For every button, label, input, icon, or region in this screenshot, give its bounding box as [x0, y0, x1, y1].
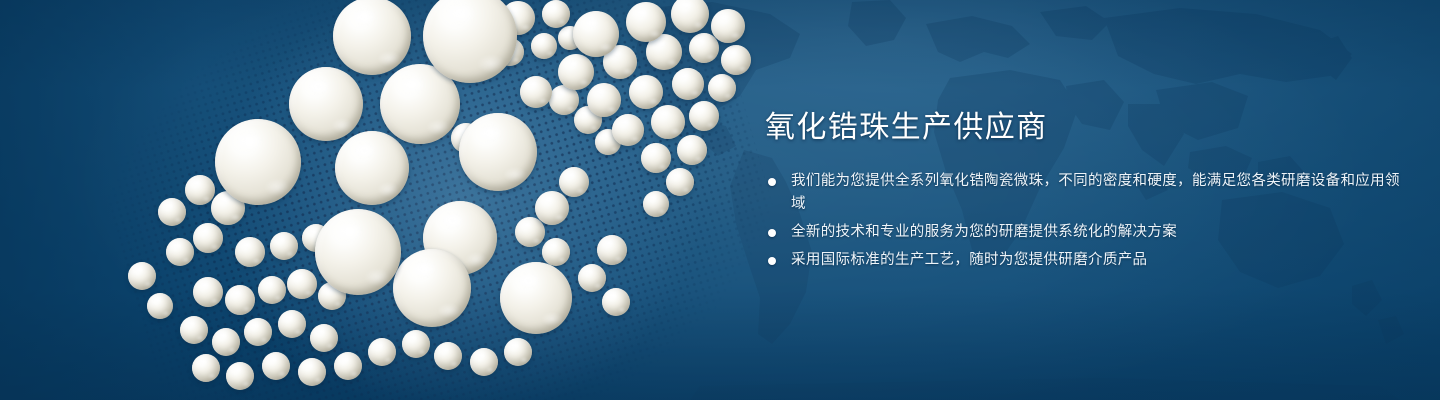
bullet-item: 全新的技术和专业的服务为您的研磨提供系统化的解决方案 [765, 221, 1405, 244]
bullet-item: 我们能为您提供全系列氧化锆陶瓷微珠，不同的密度和硬度，能满足您各类研磨设备和应用… [765, 170, 1405, 216]
banner-copy: 氧化锆珠生产供应商 我们能为您提供全系列氧化锆陶瓷微珠，不同的密度和硬度，能满足… [765, 108, 1405, 277]
bullet-text: 采用国际标准的生产工艺，随时为您提供研磨介质产品 [791, 252, 1147, 268]
hero-banner: 氧化锆珠生产供应商 我们能为您提供全系列氧化锆陶瓷微珠，不同的密度和硬度，能满足… [0, 0, 1440, 400]
bullet-item: 采用国际标准的生产工艺，随时为您提供研磨介质产品 [765, 249, 1405, 272]
banner-headline: 氧化锆珠生产供应商 [765, 108, 1405, 148]
filled-circle-bullet-icon [768, 178, 776, 186]
bullet-text: 我们能为您提供全系列氧化锆陶瓷微珠，不同的密度和硬度，能满足您各类研磨设备和应用… [791, 173, 1400, 212]
banner-bullet-list: 我们能为您提供全系列氧化锆陶瓷微珠，不同的密度和硬度，能满足您各类研磨设备和应用… [765, 170, 1405, 272]
bullet-text: 全新的技术和专业的服务为您的研磨提供系统化的解决方案 [791, 224, 1177, 240]
halftone-texture [68, 0, 813, 400]
filled-circle-bullet-icon [768, 229, 776, 237]
filled-circle-bullet-icon [768, 257, 776, 265]
